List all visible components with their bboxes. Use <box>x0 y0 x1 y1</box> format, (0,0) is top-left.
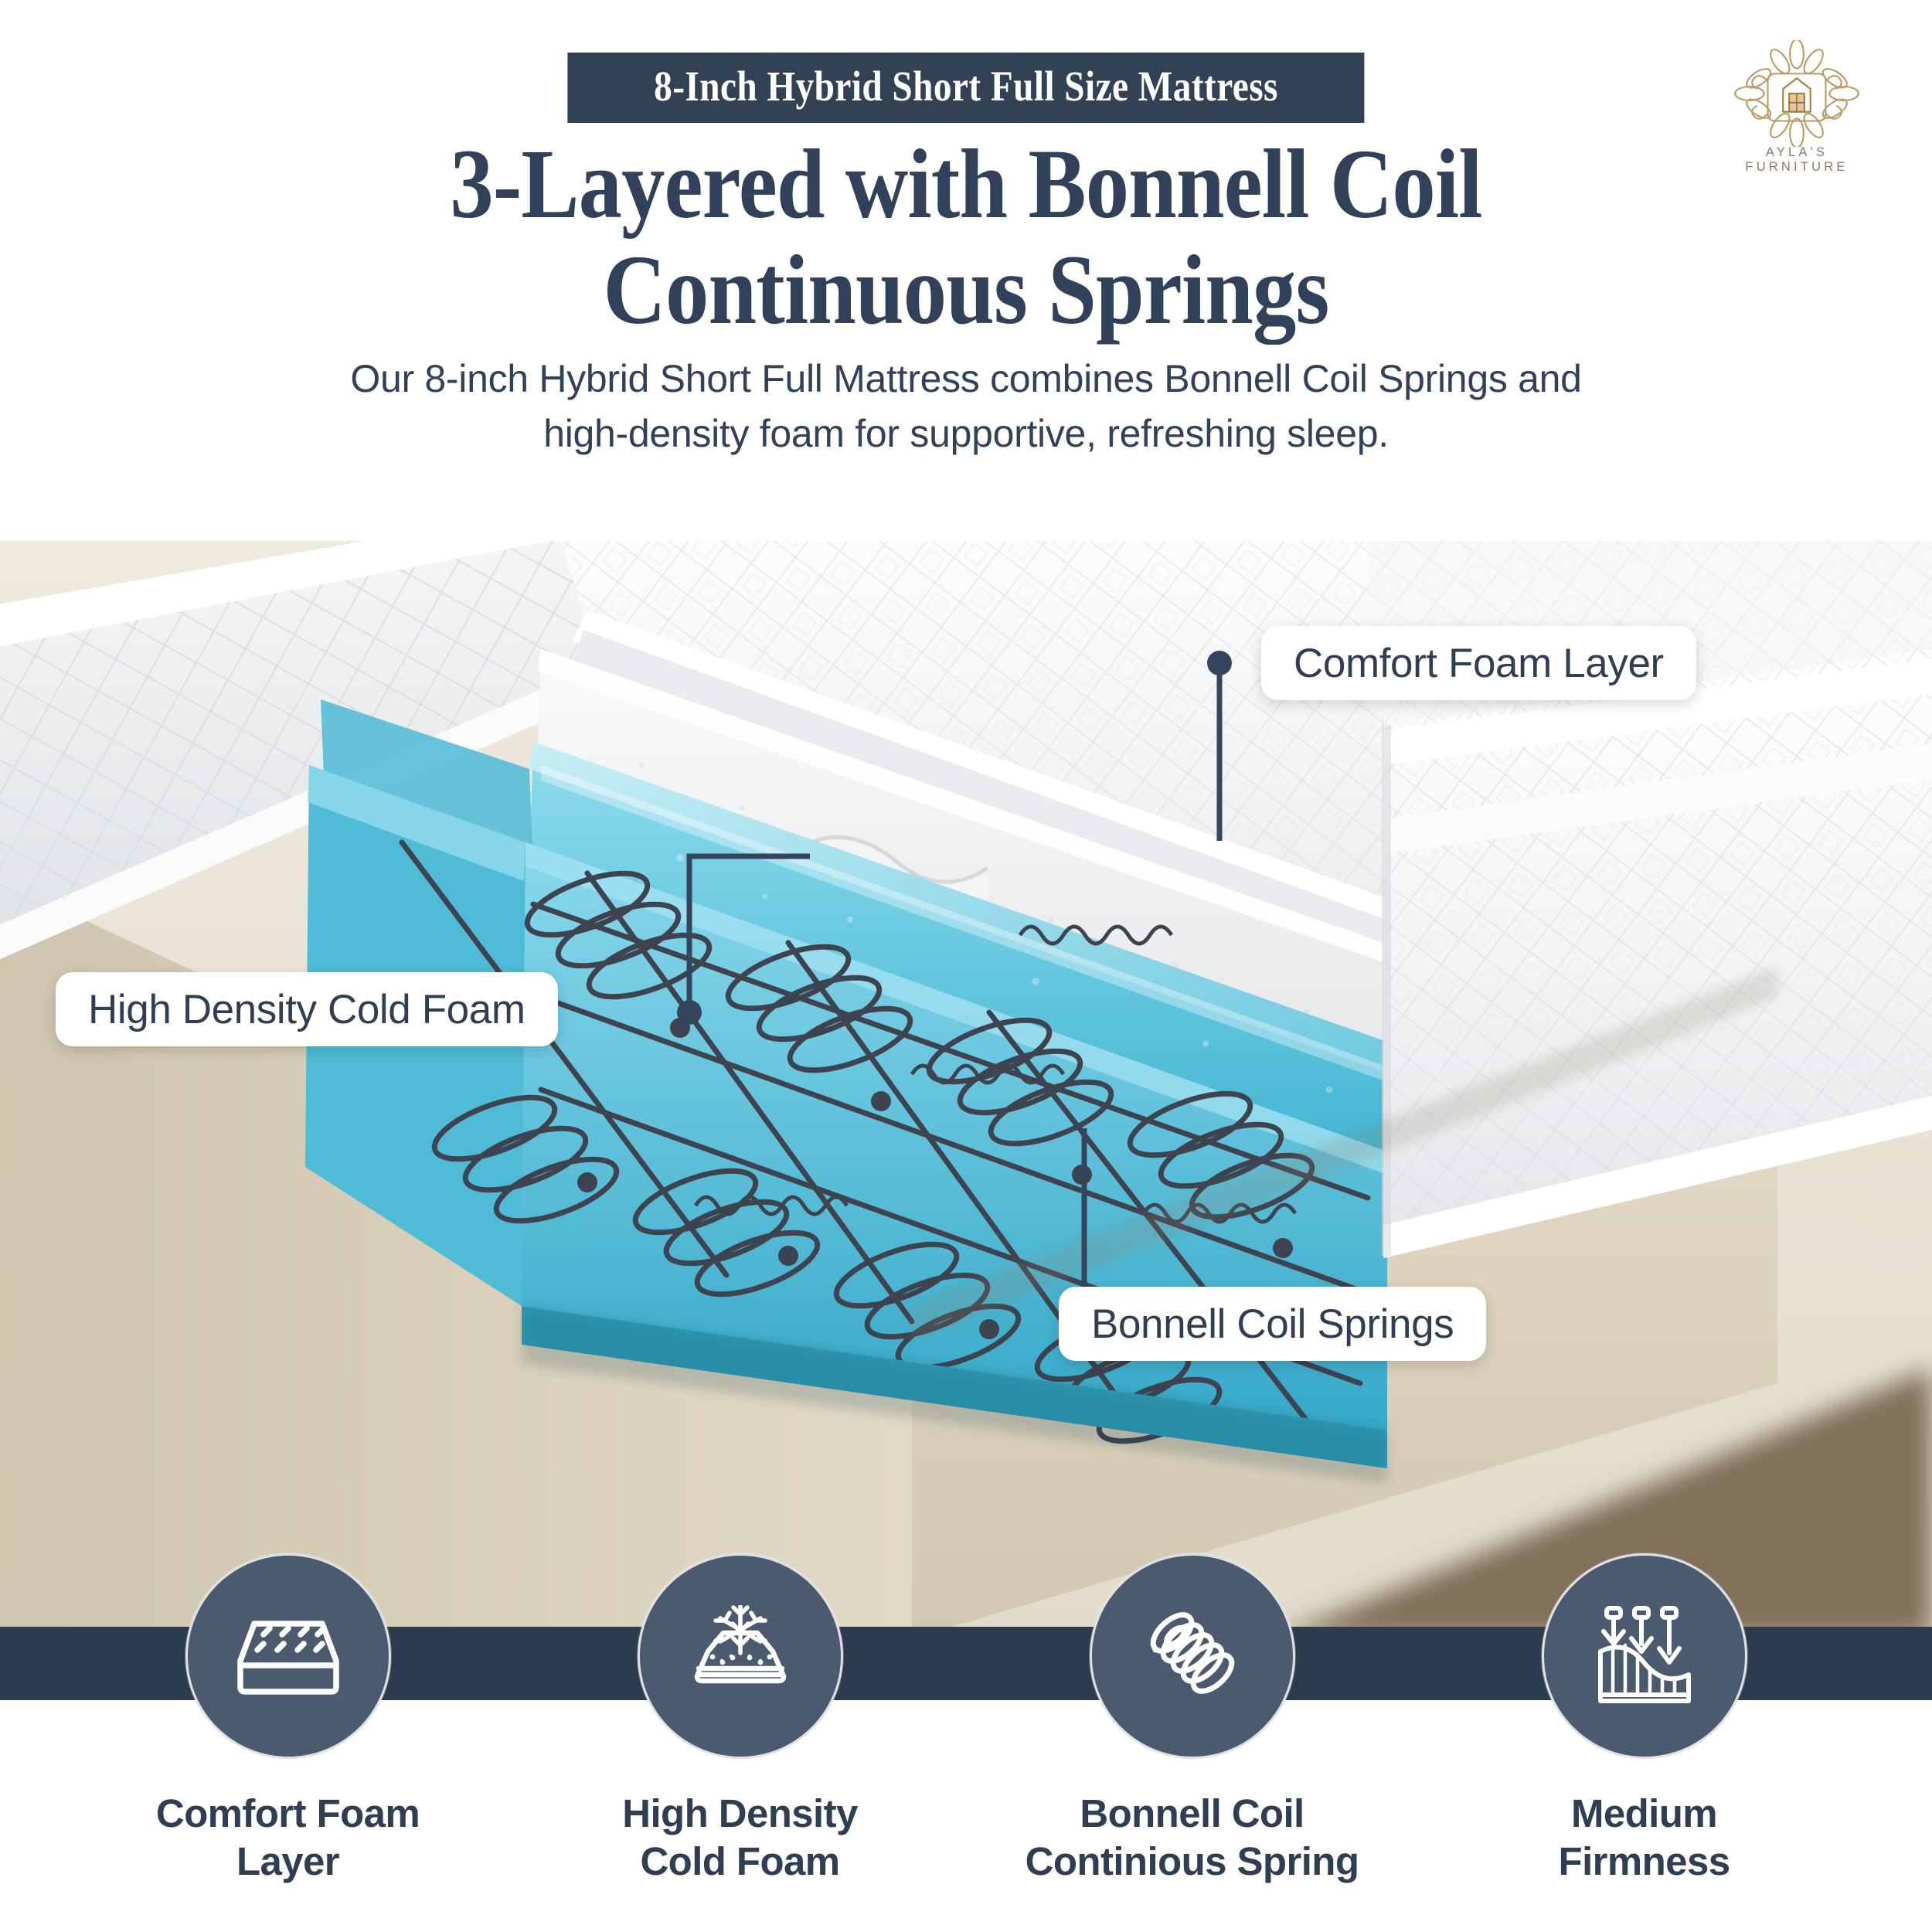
feature-icon-circle <box>185 1553 391 1759</box>
callout-label: Bonnell Coil Springs <box>1091 1304 1454 1345</box>
feature-medium-firmness[interactable]: Medium Firmness <box>1418 1553 1870 1886</box>
feature-label-line-1: Medium <box>1559 1790 1730 1838</box>
feature-label-line-2: Firmness <box>1559 1838 1730 1886</box>
feature-label: High Density Cold Foam <box>622 1790 858 1886</box>
feature-label-line-1: Bonnell Coil <box>1026 1790 1359 1838</box>
page-title: 3-Layered with Bonnell Coil Continuous S… <box>0 131 1932 343</box>
feature-row: Comfort Foam Layer <box>0 1553 1932 1932</box>
subtitle-line-1: Our 8-inch Hybrid Short Full Mattress co… <box>232 352 1700 406</box>
feature-label-line-1: High Density <box>622 1790 858 1838</box>
ornate-house-monogram-icon <box>1719 40 1874 147</box>
callout-comfort-foam-layer: Comfort Foam Layer <box>1261 626 1696 700</box>
callout-high-density-cold-foam: High Density Cold Foam <box>56 972 558 1046</box>
coil-spring-icon <box>1138 1602 1247 1710</box>
header-section: 8-Inch Hybrid Short Full Size Mattress 3… <box>0 0 1932 541</box>
eyebrow-text: 8-Inch Hybrid Short Full Size Mattress <box>654 65 1278 107</box>
feature-comfort-foam-layer[interactable]: Comfort Foam Layer <box>62 1553 514 1886</box>
pressure-arrows-mattress-icon <box>1590 1604 1699 1709</box>
feature-icon-circle <box>1090 1553 1295 1759</box>
callout-bonnell-coil-springs: Bonnell Coil Springs <box>1059 1287 1486 1361</box>
heading-line-2: Continuous Springs <box>116 237 1816 343</box>
subtitle-line-2: high-density foam for supportive, refres… <box>232 406 1700 461</box>
feature-label: Bonnell Coil Continious Spring <box>1026 1790 1359 1886</box>
feature-bonnell-coil-continious-spring[interactable]: Bonnell Coil Continious Spring <box>966 1553 1418 1886</box>
feature-label: Medium Firmness <box>1559 1790 1730 1886</box>
feature-label: Comfort Foam Layer <box>156 1790 420 1886</box>
leader-high-density-foam <box>672 833 827 1026</box>
feature-icon-circle <box>1542 1553 1747 1759</box>
brand-logo: AYLA'S FURNITURE <box>1719 40 1874 179</box>
mattress-tufted-icon <box>234 1607 342 1706</box>
callout-label: Comfort Foam Layer <box>1294 643 1664 684</box>
callout-label: High Density Cold Foam <box>88 989 526 1030</box>
feature-label-line-2: Continious Spring <box>1026 1838 1359 1886</box>
feature-label-line-2: Cold Foam <box>622 1838 858 1886</box>
feature-label-line-1: Comfort Foam <box>156 1790 420 1838</box>
feature-high-density-cold-foam[interactable]: High Density Cold Foam <box>514 1553 966 1886</box>
feature-icon-circle <box>638 1553 843 1759</box>
feature-label-line-2: Layer <box>156 1838 420 1886</box>
heading-line-1: 3-Layered with Bonnell Coil <box>116 131 1816 237</box>
subtitle-text: Our 8-inch Hybrid Short Full Mattress co… <box>232 352 1700 461</box>
snowflake-mattress-icon <box>686 1605 794 1707</box>
eyebrow-banner: 8-Inch Hybrid Short Full Size Mattress <box>567 53 1364 123</box>
logo-wordmark: AYLA'S FURNITURE <box>1719 145 1874 175</box>
